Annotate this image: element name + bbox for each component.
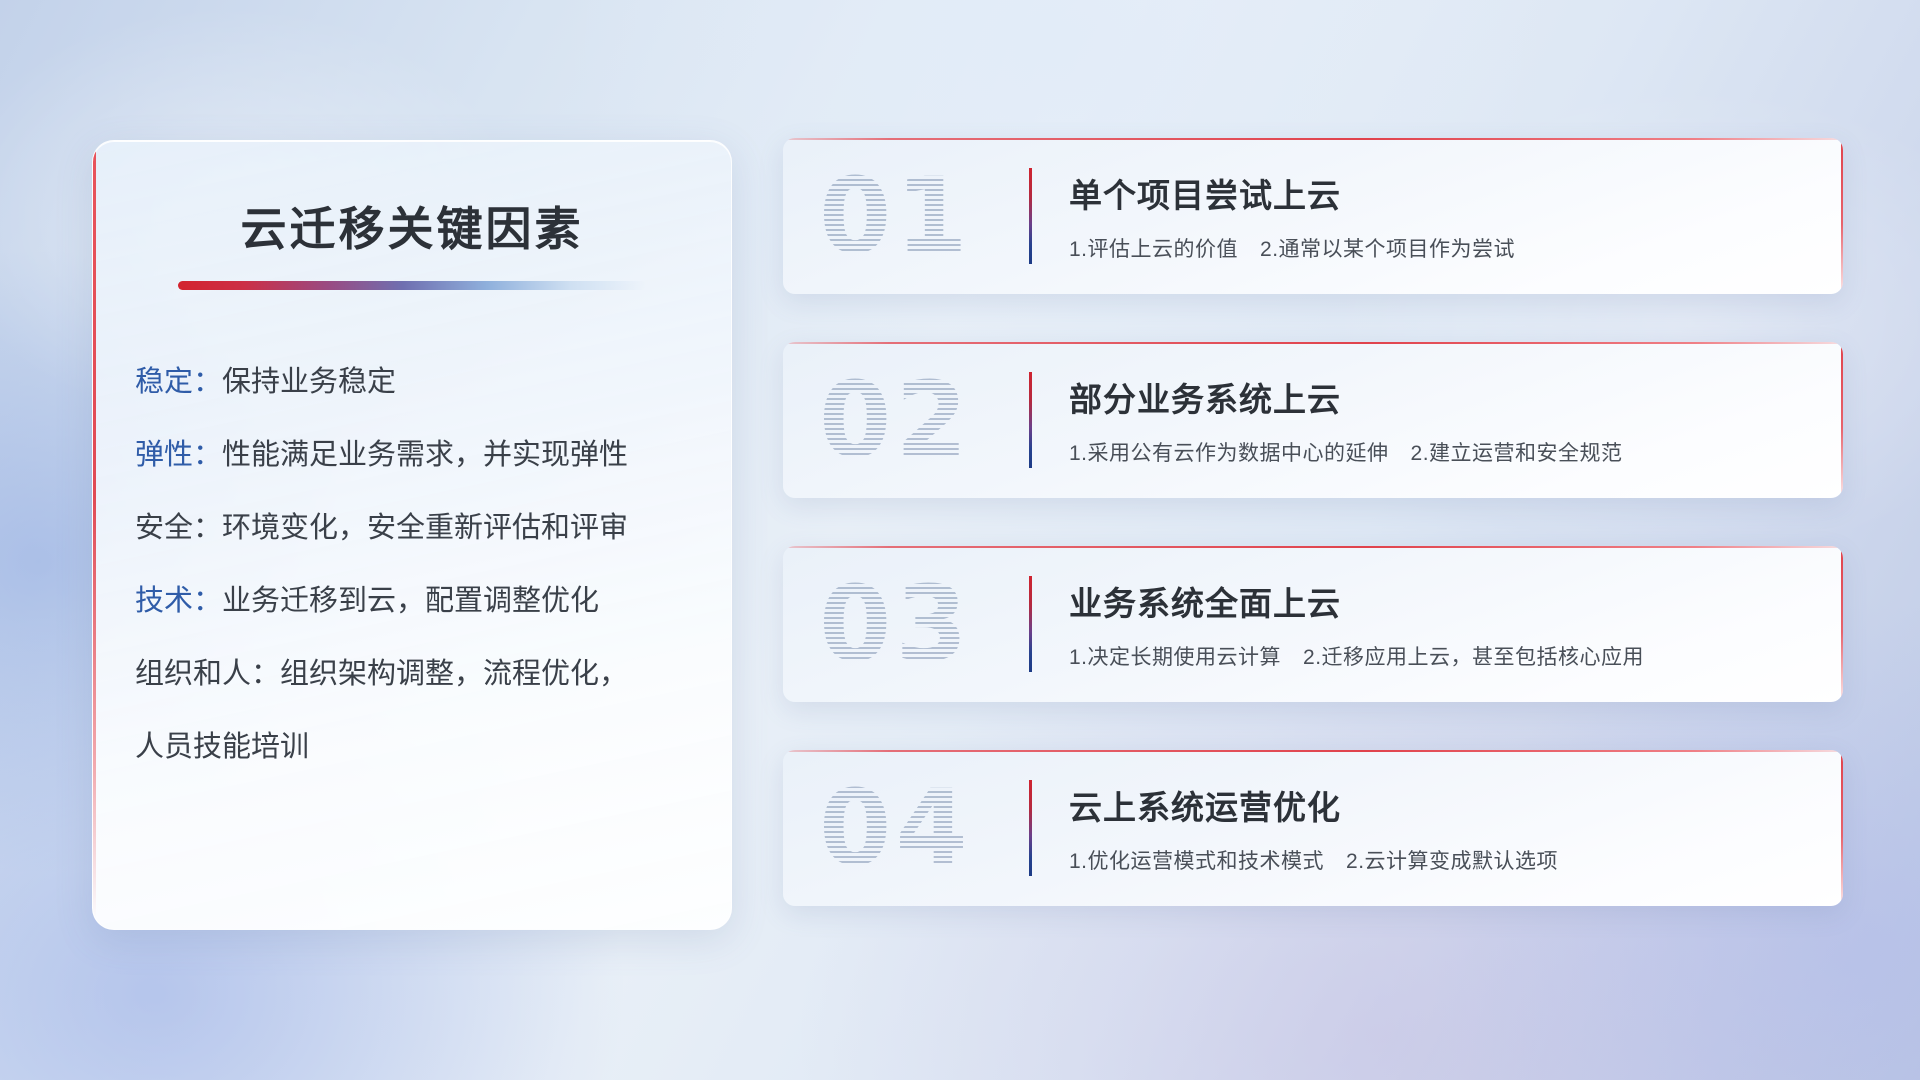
step-number-watermark: 01 [819, 164, 972, 268]
factor-label: 稳定： [135, 366, 222, 398]
step-description-item-2: 2.迁移应用上云，甚至包括核心应用 [1303, 646, 1644, 669]
step-divider-line [1029, 372, 1032, 468]
factor-label: 安全： [135, 512, 222, 544]
page-title: 云迁移关键因素 [93, 193, 731, 259]
step-description-item-1: 1.决定长期使用云计算 [1069, 646, 1281, 669]
step-title: 云上系统运营优化 [1069, 781, 1558, 829]
step-card-03[interactable]: 03 业务系统全面上云 1.决定长期使用云计算2.迁移应用上云，甚至包括核心应用 [783, 546, 1843, 702]
factor-text: 业务迁移到云，配置调整优化 [222, 585, 599, 617]
step-divider-line [1029, 780, 1032, 876]
step-card-body: 云上系统运营优化 1.优化运营模式和技术模式2.云计算变成默认选项 [1069, 781, 1558, 875]
factor-text: 性能满足业务需求，并实现弹性 [222, 439, 628, 471]
factor-item-organization-and-people: 组织和人：组织架构调整，流程优化， [135, 660, 731, 689]
step-description-item-2: 2.建立运营和安全规范 [1411, 442, 1623, 465]
migration-steps-list: 01 单个项目尝试上云 1.评估上云的价值2.通常以某个项目作为尝试 02 部分… [783, 138, 1843, 906]
factor-item-security: 安全：环境变化，安全重新评估和评审 [135, 514, 731, 543]
step-card-body: 单个项目尝试上云 1.评估上云的价值2.通常以某个项目作为尝试 [1069, 169, 1515, 263]
step-card-01[interactable]: 01 单个项目尝试上云 1.评估上云的价值2.通常以某个项目作为尝试 [783, 138, 1843, 294]
step-number-watermark: 02 [819, 368, 972, 472]
step-description: 1.采用公有云作为数据中心的延伸2.建立运营和安全规范 [1069, 437, 1623, 467]
step-number-watermark: 03 [819, 572, 972, 676]
key-factors-panel: 云迁移关键因素 稳定：保持业务稳定 弹性：性能满足业务需求，并实现弹性 安全：环… [92, 140, 732, 930]
factor-text: 保持业务稳定 [222, 366, 396, 398]
factor-text: 人员技能培训 [135, 731, 309, 763]
step-title: 单个项目尝试上云 [1069, 169, 1515, 217]
step-card-02[interactable]: 02 部分业务系统上云 1.采用公有云作为数据中心的延伸2.建立运营和安全规范 [783, 342, 1843, 498]
slide-canvas: 云迁移关键因素 稳定：保持业务稳定 弹性：性能满足业务需求，并实现弹性 安全：环… [0, 0, 1920, 1080]
factor-list: 稳定：保持业务稳定 弹性：性能满足业务需求，并实现弹性 安全：环境变化，安全重新… [93, 368, 731, 762]
step-description: 1.决定长期使用云计算2.迁移应用上云，甚至包括核心应用 [1069, 641, 1644, 671]
step-number-watermark: 04 [819, 776, 972, 880]
step-description: 1.优化运营模式和技术模式2.云计算变成默认选项 [1069, 845, 1558, 875]
factor-text: 环境变化，安全重新评估和评审 [222, 512, 628, 544]
step-divider-line [1029, 168, 1032, 264]
factor-item-stability: 稳定：保持业务稳定 [135, 368, 731, 397]
step-description-item-1: 1.评估上云的价值 [1069, 238, 1238, 261]
factor-label: 组织和人： [135, 658, 280, 690]
step-card-body: 业务系统全面上云 1.决定长期使用云计算2.迁移应用上云，甚至包括核心应用 [1069, 577, 1644, 671]
step-description-item-2: 2.云计算变成默认选项 [1346, 850, 1558, 873]
factor-item-elasticity: 弹性：性能满足业务需求，并实现弹性 [135, 441, 731, 470]
step-description-item-1: 1.采用公有云作为数据中心的延伸 [1069, 442, 1389, 465]
step-description-item-1: 1.优化运营模式和技术模式 [1069, 850, 1324, 873]
factor-item-organization-continuation: 人员技能培训 [135, 733, 731, 762]
title-underline-gradient [178, 281, 646, 290]
factor-item-technology: 技术：业务迁移到云，配置调整优化 [135, 587, 731, 616]
factor-text: 组织架构调整，流程优化， [280, 658, 628, 690]
step-description-item-2: 2.通常以某个项目作为尝试 [1260, 238, 1515, 261]
step-card-04[interactable]: 04 云上系统运营优化 1.优化运营模式和技术模式2.云计算变成默认选项 [783, 750, 1843, 906]
step-divider-line [1029, 576, 1032, 672]
step-card-body: 部分业务系统上云 1.采用公有云作为数据中心的延伸2.建立运营和安全规范 [1069, 373, 1623, 467]
factor-label: 技术： [135, 585, 222, 617]
factor-label: 弹性： [135, 439, 222, 471]
step-title: 部分业务系统上云 [1069, 373, 1623, 421]
step-title: 业务系统全面上云 [1069, 577, 1644, 625]
step-description: 1.评估上云的价值2.通常以某个项目作为尝试 [1069, 233, 1515, 263]
